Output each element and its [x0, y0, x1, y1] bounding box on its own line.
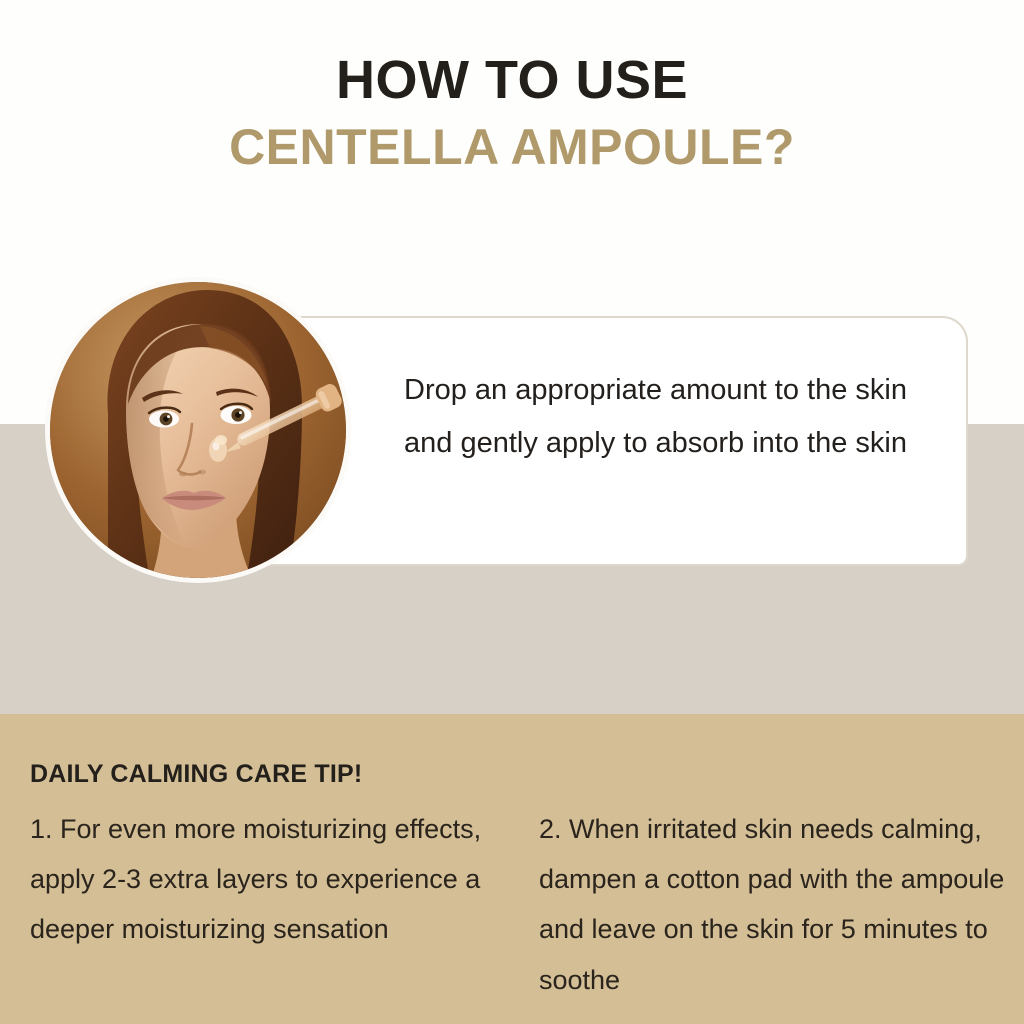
model-photo-illustration	[50, 282, 346, 578]
tips-columns: 1. For even more moisturizing effects, a…	[30, 804, 1006, 1005]
header: HOW TO USE CENTELLA AMPOULE?	[0, 52, 1024, 174]
instruction-text: Drop an appropriate amount to the skin a…	[404, 364, 934, 470]
model-photo	[50, 282, 346, 578]
tip-item-1: 1. For even more moisturizing effects, a…	[30, 804, 497, 1005]
tips-heading: DAILY CALMING CARE TIP!	[30, 760, 362, 789]
page-title: HOW TO USE	[0, 52, 1024, 109]
daily-care-tips-section: DAILY CALMING CARE TIP! 1. For even more…	[0, 714, 1024, 1024]
infographic-root: HOW TO USE CENTELLA AMPOULE? Drop an app…	[0, 0, 1024, 1024]
tip-item-2: 2. When irritated skin needs calming, da…	[539, 804, 1006, 1005]
page-subtitle: CENTELLA AMPOULE?	[0, 121, 1024, 174]
